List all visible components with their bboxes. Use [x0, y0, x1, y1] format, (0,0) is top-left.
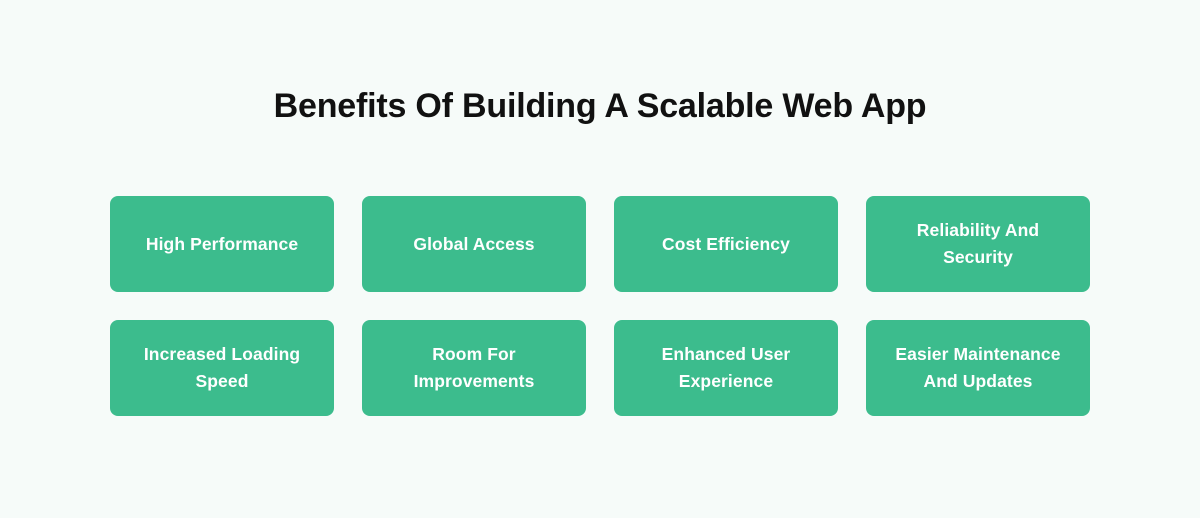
- benefit-card-label: Room For Improvements: [384, 341, 564, 395]
- benefit-card-room-for-improvements: Room For Improvements: [362, 320, 586, 416]
- benefit-card-label: High Performance: [146, 231, 298, 258]
- benefits-grid: High Performance Global Access Cost Effi…: [110, 196, 1090, 416]
- benefit-card-enhanced-user-experience: Enhanced User Experience: [614, 320, 838, 416]
- benefit-card-easier-maintenance-and-updates: Easier Maintenance And Updates: [866, 320, 1090, 416]
- benefit-card-label: Enhanced User Experience: [636, 341, 816, 395]
- benefit-card-high-performance: High Performance: [110, 196, 334, 292]
- page-title: Benefits Of Building A Scalable Web App: [0, 84, 1200, 128]
- benefit-card-cost-efficiency: Cost Efficiency: [614, 196, 838, 292]
- benefit-card-global-access: Global Access: [362, 196, 586, 292]
- benefit-card-label: Reliability And Security: [888, 217, 1068, 271]
- benefit-card-label: Cost Efficiency: [662, 231, 790, 258]
- benefit-card-label: Increased Loading Speed: [132, 341, 312, 395]
- benefit-card-label: Easier Maintenance And Updates: [888, 341, 1068, 395]
- benefits-infographic: Benefits Of Building A Scalable Web App …: [0, 0, 1200, 518]
- benefit-card-reliability-and-security: Reliability And Security: [866, 196, 1090, 292]
- benefit-card-label: Global Access: [413, 231, 534, 258]
- benefit-card-increased-loading-speed: Increased Loading Speed: [110, 320, 334, 416]
